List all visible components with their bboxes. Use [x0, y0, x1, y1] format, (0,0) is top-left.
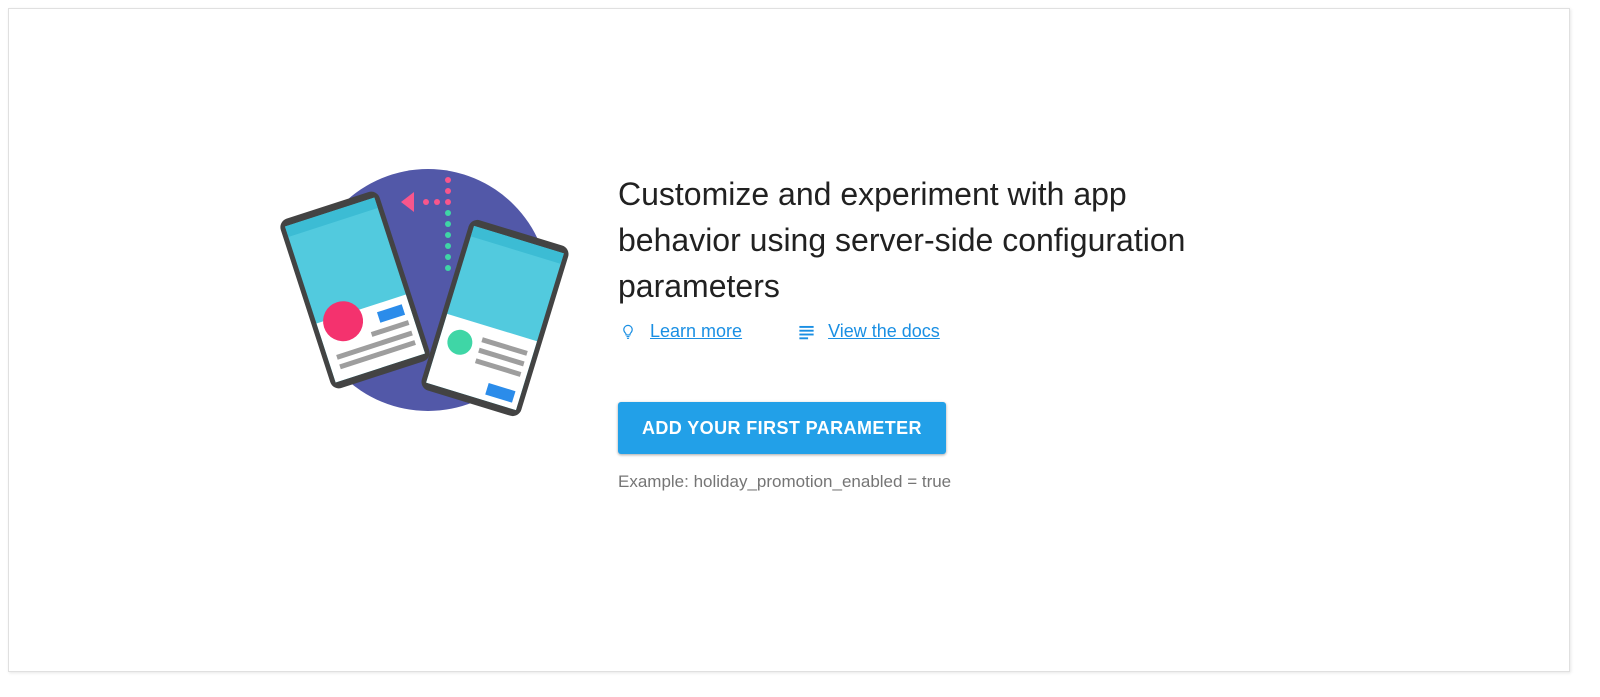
- arrow-dot: [445, 221, 451, 227]
- add-first-parameter-button[interactable]: ADD YOUR FIRST PARAMETER: [618, 402, 946, 454]
- phone-left-topbar: [285, 197, 378, 237]
- phone-right-topbar: [471, 226, 564, 264]
- arrow-dot: [423, 199, 429, 205]
- phone-right-action-chip: [485, 383, 515, 403]
- learn-more-link-label: Learn more: [650, 321, 742, 342]
- arrow-head-left-icon: [401, 192, 414, 212]
- links-row: Learn more View the docs: [618, 321, 1238, 342]
- lightbulb-icon: [618, 322, 638, 342]
- two-phones-remote-config-illustration: [297, 159, 577, 421]
- view-docs-link[interactable]: View the docs: [796, 321, 940, 342]
- arrow-dot: [445, 232, 451, 238]
- article-lines-icon: [796, 322, 816, 342]
- arrow-dot: [434, 199, 440, 205]
- arrow-dot: [445, 243, 451, 249]
- arrow-dot: [445, 265, 451, 271]
- view-docs-link-label: View the docs: [828, 321, 940, 342]
- page-card: Customize and experiment with app behavi…: [8, 8, 1570, 672]
- arrow-dot: [445, 254, 451, 260]
- empty-state-content: Customize and experiment with app behavi…: [618, 171, 1238, 492]
- arrow-dot: [445, 177, 451, 183]
- phone-right-avatar-dot: [444, 327, 475, 358]
- arrow-dot: [445, 210, 451, 216]
- example-hint-text: Example: holiday_promotion_enabled = tru…: [618, 472, 1238, 492]
- phone-left-avatar-dot: [318, 296, 368, 346]
- page-title: Customize and experiment with app behavi…: [618, 171, 1238, 309]
- arrow-dot: [445, 188, 451, 194]
- arrow-dot: [445, 199, 451, 205]
- learn-more-link[interactable]: Learn more: [618, 321, 742, 342]
- phone-left-action-chip: [377, 304, 405, 322]
